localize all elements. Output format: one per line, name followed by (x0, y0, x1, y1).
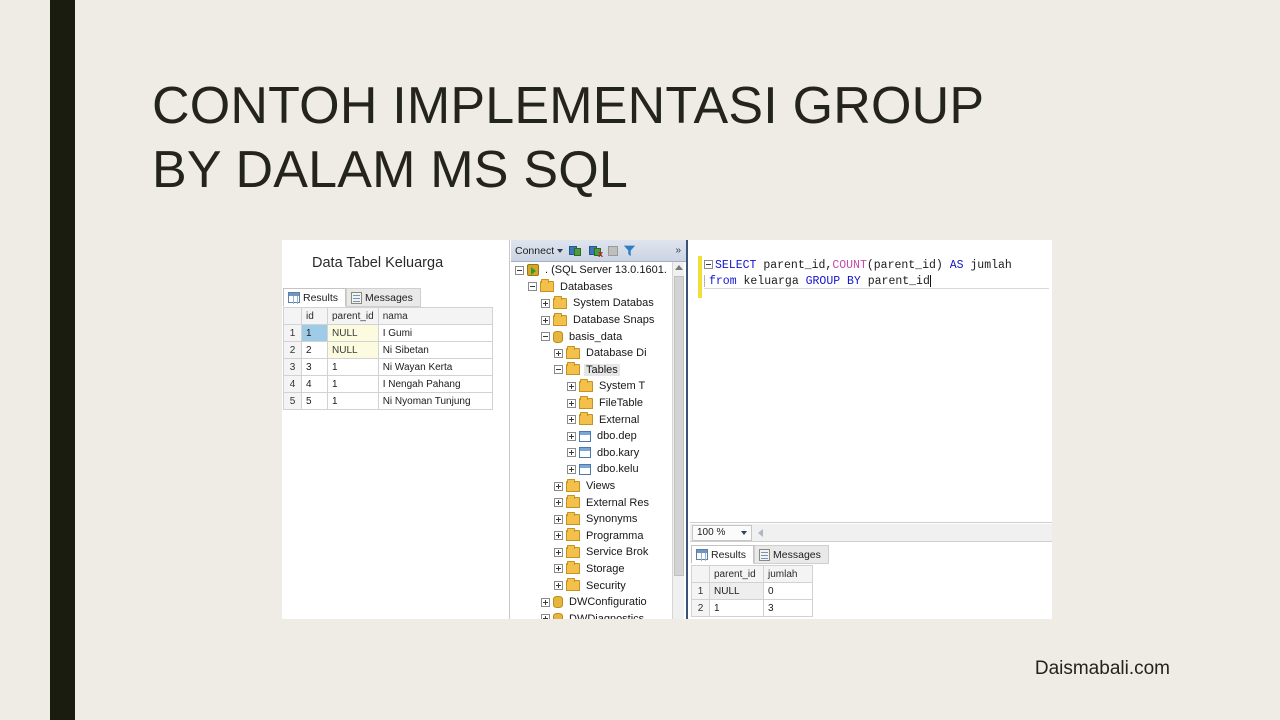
object-explorer-scrollbar[interactable] (672, 262, 684, 619)
sql-fn-count: COUNT (832, 259, 867, 272)
scroll-left-icon[interactable] (758, 529, 763, 537)
folder-icon (566, 547, 580, 558)
cell-parent-id[interactable]: NULL (328, 325, 379, 342)
folder-icon (566, 497, 580, 508)
table-row[interactable]: 1 NULL 0 (692, 583, 813, 600)
tree-item-dbo-kary[interactable]: dbo.kary (511, 445, 674, 462)
col-id: id (302, 308, 328, 325)
sql-table-keluarga: keluarga (737, 275, 806, 288)
tree-item-label: Views (584, 480, 617, 492)
object-explorer-tree[interactable]: . (SQL Server 13.0.1601.DatabasesSystem … (511, 262, 674, 619)
cell-parent-id[interactable]: 1 (328, 359, 379, 376)
sql-groupby-col: parent_id (861, 275, 930, 288)
database-icon (553, 331, 563, 343)
tree-item-label: Databases (558, 281, 615, 293)
tree-item-label: Database Snaps (571, 314, 656, 326)
col-parent-id: parent_id (710, 566, 764, 583)
connect-button[interactable]: Connect (515, 245, 563, 257)
tree-item-dwdiagnostics[interactable]: DWDiagnostics (511, 610, 674, 619)
expand-icon[interactable] (554, 498, 563, 507)
editor-zoom-bar: 100 % (690, 524, 1052, 542)
folder-icon (566, 580, 580, 591)
collapse-icon[interactable] (554, 365, 563, 374)
expand-icon[interactable] (554, 515, 563, 524)
folder-icon (566, 514, 580, 525)
tree-item-security[interactable]: Security (511, 577, 674, 594)
tree-item-dbo-dep[interactable]: dbo.dep (511, 428, 674, 445)
row-number: 2 (692, 600, 710, 617)
table-row[interactable]: 4 4 1 I Nengah Pahang (284, 376, 493, 393)
collapse-icon[interactable] (541, 332, 550, 341)
cell-id[interactable]: 2 (302, 342, 328, 359)
cell-parent-id[interactable]: 1 (328, 376, 379, 393)
tree-item-label: DWConfiguratio (567, 596, 649, 608)
table-row[interactable]: 1 1 NULL I Gumi (284, 325, 493, 342)
tree-item-label: dbo.kelu (595, 463, 641, 475)
row-number: 4 (284, 376, 302, 393)
database-icon (553, 613, 563, 619)
cell-id[interactable]: 1 (302, 325, 328, 342)
tree-item-label: Database Di (584, 347, 649, 359)
sql-count-arg: (parent_id) (867, 259, 950, 272)
table-row[interactable]: 2 1 3 (692, 600, 813, 617)
table-row[interactable]: 3 3 1 Ni Wayan Kerta (284, 359, 493, 376)
messages-icon (759, 549, 770, 561)
tab-results-label: Results (711, 549, 746, 561)
row-number: 5 (284, 393, 302, 410)
tree-item-label: Programma (584, 530, 645, 542)
tab-messages[interactable]: Messages (754, 545, 829, 564)
text-caret (930, 275, 931, 287)
folder-icon (579, 414, 593, 425)
zoom-level-value: 100 % (697, 527, 725, 538)
sql-kw-select: SELECT (715, 259, 756, 272)
toolbar-overflow-icon[interactable]: » (675, 245, 682, 256)
tree-item-synonyms[interactable]: Synonyms (511, 511, 674, 528)
tree-item-database-di[interactable]: Database Di (511, 345, 674, 362)
results-grid-icon (288, 292, 300, 303)
table-header-row: id parent_id nama (284, 308, 493, 325)
tab-results-label: Results (303, 292, 338, 304)
cell-nama[interactable]: Ni Sibetan (378, 342, 492, 359)
cell-jumlah[interactable]: 3 (764, 600, 813, 617)
cell-nama[interactable]: Ni Nyoman Tunjung (378, 393, 492, 410)
tree-item-basis-data[interactable]: basis_data (511, 328, 674, 345)
col-jumlah: jumlah (764, 566, 813, 583)
sql-kw-as: AS (950, 259, 964, 272)
zoom-level-select[interactable]: 100 % (692, 525, 752, 541)
tree-item-filetable[interactable]: FileTable (511, 395, 674, 412)
disconnect-object-explorer-icon[interactable]: x (588, 244, 603, 258)
sql-col-parentid: parent_id, (756, 259, 832, 272)
tree-item-programma[interactable]: Programma (511, 528, 674, 545)
tree-item-dwconfiguratio[interactable]: DWConfiguratio (511, 594, 674, 611)
table-row[interactable]: 2 2 NULL Ni Sibetan (284, 342, 493, 359)
expand-icon[interactable] (567, 432, 576, 441)
connect-object-explorer-icon[interactable] (568, 244, 583, 258)
data-table-panel: Data Tabel Keluarga Results Messages id … (282, 240, 510, 619)
tree-item-databases[interactable]: Databases (511, 279, 674, 296)
embedded-screenshot: Data Tabel Keluarga Results Messages id … (282, 240, 1052, 619)
object-explorer-panel: Connect x » . (SQL Server 13.0.1601.Data… (511, 240, 688, 619)
filter-funnel-icon[interactable] (623, 244, 636, 257)
folder-icon (553, 298, 567, 309)
sql-text[interactable]: SELECT parent_id,COUNT(parent_id) AS jum… (704, 258, 1012, 290)
folder-icon (579, 398, 593, 409)
collapse-icon[interactable] (515, 266, 524, 275)
slide-footer: Daismabali.com (1035, 658, 1170, 680)
expand-icon[interactable] (554, 531, 563, 540)
tree-item-storage[interactable]: Storage (511, 561, 674, 578)
tree-item-label: DWDiagnostics (567, 613, 646, 619)
tree-item-label: Tables (584, 364, 620, 376)
tree-item-label: . (SQL Server 13.0.1601. (543, 264, 669, 276)
messages-icon (351, 292, 362, 304)
folder-icon (566, 364, 580, 375)
scroll-up-icon[interactable] (675, 265, 683, 270)
editor-line-underline (704, 288, 1049, 289)
cell-nama[interactable]: Ni Wayan Kerta (378, 359, 492, 376)
collapse-icon[interactable] (528, 282, 537, 291)
stop-icon (608, 246, 618, 256)
tree-item-database-snaps[interactable]: Database Snaps (511, 312, 674, 329)
row-number: 1 (692, 583, 710, 600)
results-table[interactable]: parent_id jumlah 1 NULL 0 2 1 3 (691, 565, 813, 617)
tree-item-sql-server-13-0-1601[interactable]: . (SQL Server 13.0.1601. (511, 262, 674, 279)
row-number: 1 (284, 325, 302, 342)
expand-icon[interactable] (541, 614, 550, 619)
expand-icon[interactable] (567, 415, 576, 424)
folder-icon (540, 281, 554, 292)
tree-item-label: Storage (584, 563, 627, 575)
col-parent-id: parent_id (328, 308, 379, 325)
expand-icon[interactable] (567, 382, 576, 391)
table-row[interactable]: 5 5 1 Ni Nyoman Tunjung (284, 393, 493, 410)
outline-collapse-icon[interactable] (704, 260, 713, 269)
database-icon (553, 596, 563, 608)
cell-jumlah[interactable]: 0 (764, 583, 813, 600)
results-tabstrip: Results Messages (691, 545, 829, 564)
cell-id[interactable]: 3 (302, 359, 328, 376)
data-table[interactable]: id parent_id nama 1 1 NULL I Gumi 2 2 NU… (283, 307, 493, 410)
sql-kw-from: from (709, 275, 737, 288)
table-icon (579, 447, 591, 458)
expand-icon[interactable] (541, 598, 550, 607)
indent-guide (704, 275, 705, 287)
tree-item-views[interactable]: Views (511, 478, 674, 495)
folder-icon (566, 530, 580, 541)
connect-label: Connect (515, 245, 554, 257)
folder-icon (579, 381, 593, 392)
cell-id[interactable]: 5 (302, 393, 328, 410)
results-grid-icon (696, 549, 708, 560)
sql-editor[interactable]: SELECT parent_id,COUNT(parent_id) AS jum… (690, 240, 1052, 523)
expand-icon[interactable] (541, 299, 550, 308)
tree-item-label: basis_data (567, 331, 624, 343)
tab-results[interactable]: Results (691, 545, 754, 564)
table-icon (579, 464, 591, 475)
object-explorer-toolbar: Connect x » (511, 240, 686, 262)
tab-messages[interactable]: Messages (346, 288, 421, 307)
query-panel: SELECT parent_id,COUNT(parent_id) AS jum… (690, 240, 1052, 619)
sql-alias-jumlah: jumlah (964, 259, 1012, 272)
cell-parent-id[interactable]: 1 (710, 600, 764, 617)
tree-item-label: dbo.kary (595, 447, 641, 459)
results-panel: Results Messages parent_id jumlah 1 NULL… (690, 543, 1052, 619)
expand-icon[interactable] (554, 482, 563, 491)
col-rownum (692, 566, 710, 583)
tree-item-label: External (597, 414, 641, 426)
data-table-heading: Data Tabel Keluarga (312, 255, 443, 271)
expand-icon[interactable] (541, 316, 550, 325)
chevron-down-icon (557, 249, 563, 253)
col-nama: nama (378, 308, 492, 325)
tab-messages-label: Messages (773, 549, 821, 561)
expand-icon[interactable] (567, 465, 576, 474)
cell-parent-id[interactable]: NULL (328, 342, 379, 359)
expand-icon[interactable] (554, 581, 563, 590)
tree-item-label: Synonyms (584, 513, 639, 525)
cell-nama[interactable]: I Nengah Pahang (378, 376, 492, 393)
tab-results[interactable]: Results (283, 288, 346, 307)
tree-item-label: Service Brok (584, 546, 650, 558)
sql-kw-groupby: GROUP BY (806, 275, 861, 288)
table-header-row: parent_id jumlah (692, 566, 813, 583)
tree-item-service-brok[interactable]: Service Brok (511, 544, 674, 561)
folder-icon (553, 315, 567, 326)
page-title: CONTOH IMPLEMENTASI GROUP BY DALAM MS SQ… (152, 74, 1052, 202)
expand-icon[interactable] (567, 448, 576, 457)
cell-id[interactable]: 4 (302, 376, 328, 393)
folder-icon (566, 563, 580, 574)
cell-parent-id[interactable]: NULL (710, 583, 764, 600)
tree-item-label: System T (597, 380, 647, 392)
expand-icon[interactable] (567, 399, 576, 408)
cell-parent-id[interactable]: 1 (328, 393, 379, 410)
server-icon (527, 264, 539, 276)
col-rownum (284, 308, 302, 325)
tree-item-dbo-kelu[interactable]: dbo.kelu (511, 461, 674, 478)
tree-item-label: External Res (584, 497, 651, 509)
tree-item-system-t[interactable]: System T (511, 378, 674, 395)
expand-icon[interactable] (554, 349, 563, 358)
data-panel-tabstrip: Results Messages (283, 288, 421, 307)
folder-icon (566, 481, 580, 492)
table-icon (579, 431, 591, 442)
folder-icon (566, 348, 580, 359)
tree-item-label: dbo.dep (595, 430, 639, 442)
tree-item-external-res[interactable]: External Res (511, 494, 674, 511)
editor-change-bar (698, 256, 702, 298)
row-number: 2 (284, 342, 302, 359)
tab-messages-label: Messages (365, 292, 413, 304)
expand-icon[interactable] (554, 548, 563, 557)
expand-icon[interactable] (554, 564, 563, 573)
cell-nama[interactable]: I Gumi (378, 325, 492, 342)
tree-item-label: Security (584, 580, 628, 592)
row-number: 3 (284, 359, 302, 376)
tree-item-system-databas[interactable]: System Databas (511, 295, 674, 312)
chevron-down-icon (741, 531, 747, 535)
tree-item-tables[interactable]: Tables (511, 362, 674, 379)
slide-accent-bar (50, 0, 75, 720)
tree-item-label: FileTable (597, 397, 645, 409)
scrollbar-thumb[interactable] (674, 276, 684, 576)
tree-item-label: System Databas (571, 297, 656, 309)
tree-item-external[interactable]: External (511, 411, 674, 428)
